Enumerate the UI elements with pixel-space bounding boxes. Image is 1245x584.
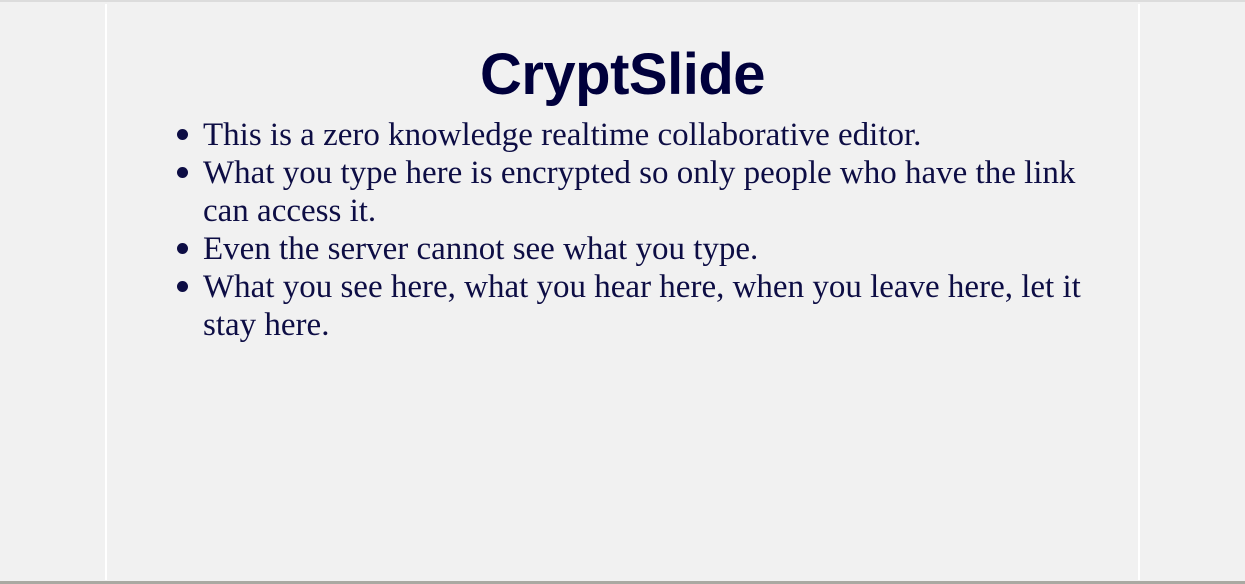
bullet-dot-icon <box>177 243 188 254</box>
left-gutter <box>0 2 105 581</box>
right-gutter <box>1140 2 1245 581</box>
slide-viewer-viewport: CryptSlide This is a zero knowledge real… <box>0 0 1245 584</box>
slide-bullet-text: Even the server cannot see what you type… <box>203 230 1118 268</box>
bullet-dot-icon <box>177 167 188 178</box>
slide-title: CryptSlide <box>107 46 1138 104</box>
slide-canvas[interactable]: CryptSlide This is a zero knowledge real… <box>107 4 1138 580</box>
bullet-dot-icon <box>177 281 188 292</box>
slide-bullet-item: Even the server cannot see what you type… <box>177 230 1120 268</box>
slide-bullet-text: This is a zero knowledge realtime collab… <box>203 116 1033 154</box>
slide-bullet-text: What you see here, what you hear here, w… <box>203 268 1083 344</box>
slide-right-rule <box>1138 4 1140 580</box>
slide-bullet-item: What you type here is encrypted so only … <box>177 154 1120 230</box>
slide-bullet-item: This is a zero knowledge realtime collab… <box>177 116 1120 154</box>
slide-bullet-text: What you type here is encrypted so only … <box>203 154 1118 230</box>
slide-bullet-item: What you see here, what you hear here, w… <box>177 268 1120 344</box>
slide-bullet-list: This is a zero knowledge realtime collab… <box>145 116 1120 344</box>
bullet-dot-icon <box>177 129 188 140</box>
